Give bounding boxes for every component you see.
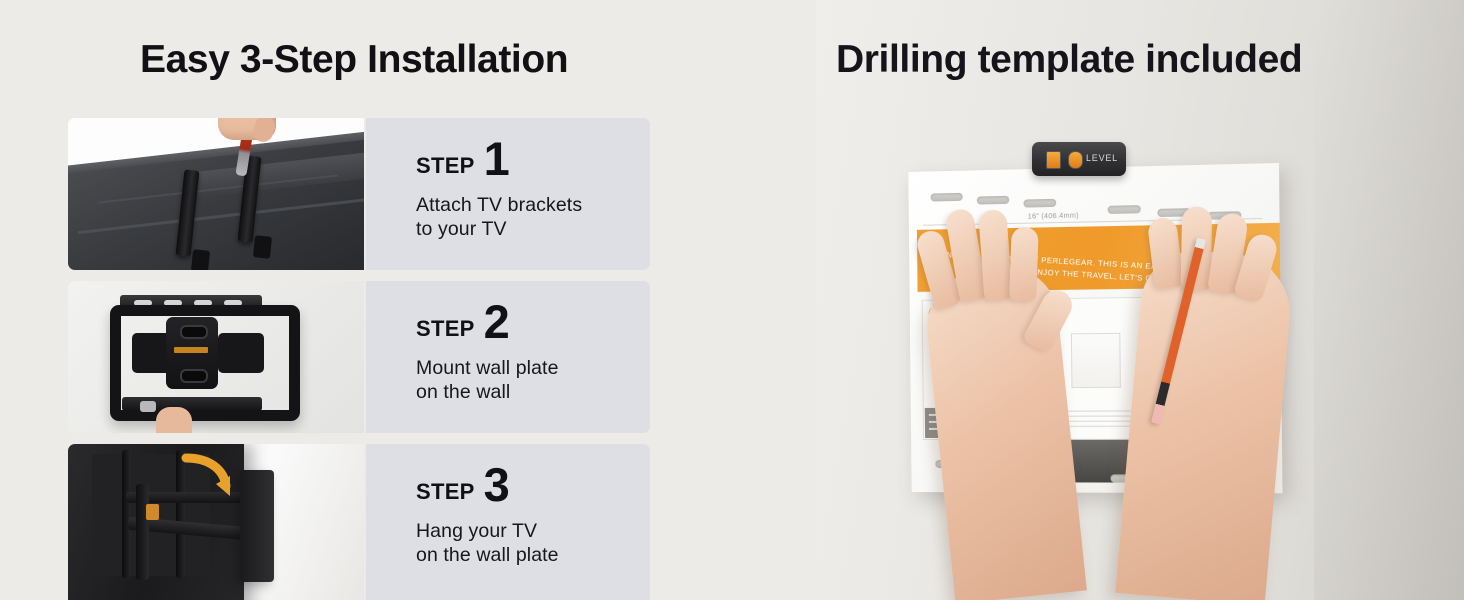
step-description: Mount wall plate on the wall xyxy=(416,357,559,405)
step-heading: STEP 1 xyxy=(416,140,509,179)
step2-text-panel: STEP 2 Mount wall plate on the wall xyxy=(366,281,650,433)
mount-post xyxy=(136,484,149,580)
bracket-foot xyxy=(253,235,272,259)
level-label: LEVEL xyxy=(1086,153,1118,163)
step-description: Attach TV brackets to your TV xyxy=(416,194,582,242)
step-row: STEP 1 Attach TV brackets to your TV xyxy=(68,118,650,270)
step-number: 2 xyxy=(484,303,509,342)
step-number: 3 xyxy=(484,466,509,505)
step1-text-panel: STEP 1 Attach TV brackets to your TV xyxy=(366,118,650,270)
template-dimension: 16" (406.4mm) xyxy=(1028,213,1079,221)
wall-shadow xyxy=(1314,0,1464,600)
infographic-stage: Easy 3-Step Installation STEP xyxy=(0,0,1464,600)
step-row: STEP 2 Mount wall plate on the wall xyxy=(68,281,650,433)
step-word: STEP xyxy=(416,318,475,340)
step-word: STEP xyxy=(416,155,475,177)
step3-photo xyxy=(68,444,364,600)
wall-plate xyxy=(240,470,274,582)
right-hand xyxy=(1115,246,1295,600)
step-heading: STEP 2 xyxy=(416,303,509,342)
rotation-arrow-icon xyxy=(180,452,236,500)
lock-bolt xyxy=(146,504,159,520)
bracket-foot xyxy=(191,249,210,270)
bubble-level: LEVEL xyxy=(1032,142,1126,176)
step-heading: STEP 3 xyxy=(416,466,509,505)
left-heading: Easy 3-Step Installation xyxy=(140,38,568,82)
step-row: STEP 3 Hang your TV on the wall plate xyxy=(68,444,650,600)
brand-logo xyxy=(174,347,208,353)
mount-arm xyxy=(218,333,264,373)
hand xyxy=(156,407,192,433)
step2-photo xyxy=(68,281,364,433)
step-description: Hang your TV on the wall plate xyxy=(416,520,559,568)
right-column: Drilling template included 16" (406.4mm)… xyxy=(700,0,1464,600)
step1-photo xyxy=(68,118,364,270)
mount-center-plate xyxy=(166,317,218,389)
left-column: Easy 3-Step Installation STEP xyxy=(0,0,700,600)
adjust-knob xyxy=(140,401,156,412)
right-heading: Drilling template included xyxy=(836,38,1302,82)
tv-bracket-icon xyxy=(122,450,131,578)
diagram-icon xyxy=(1071,333,1121,388)
step-number: 1 xyxy=(484,140,509,179)
step-word: STEP xyxy=(416,481,475,503)
step3-text-panel: STEP 3 Hang your TV on the wall plate xyxy=(366,444,650,600)
